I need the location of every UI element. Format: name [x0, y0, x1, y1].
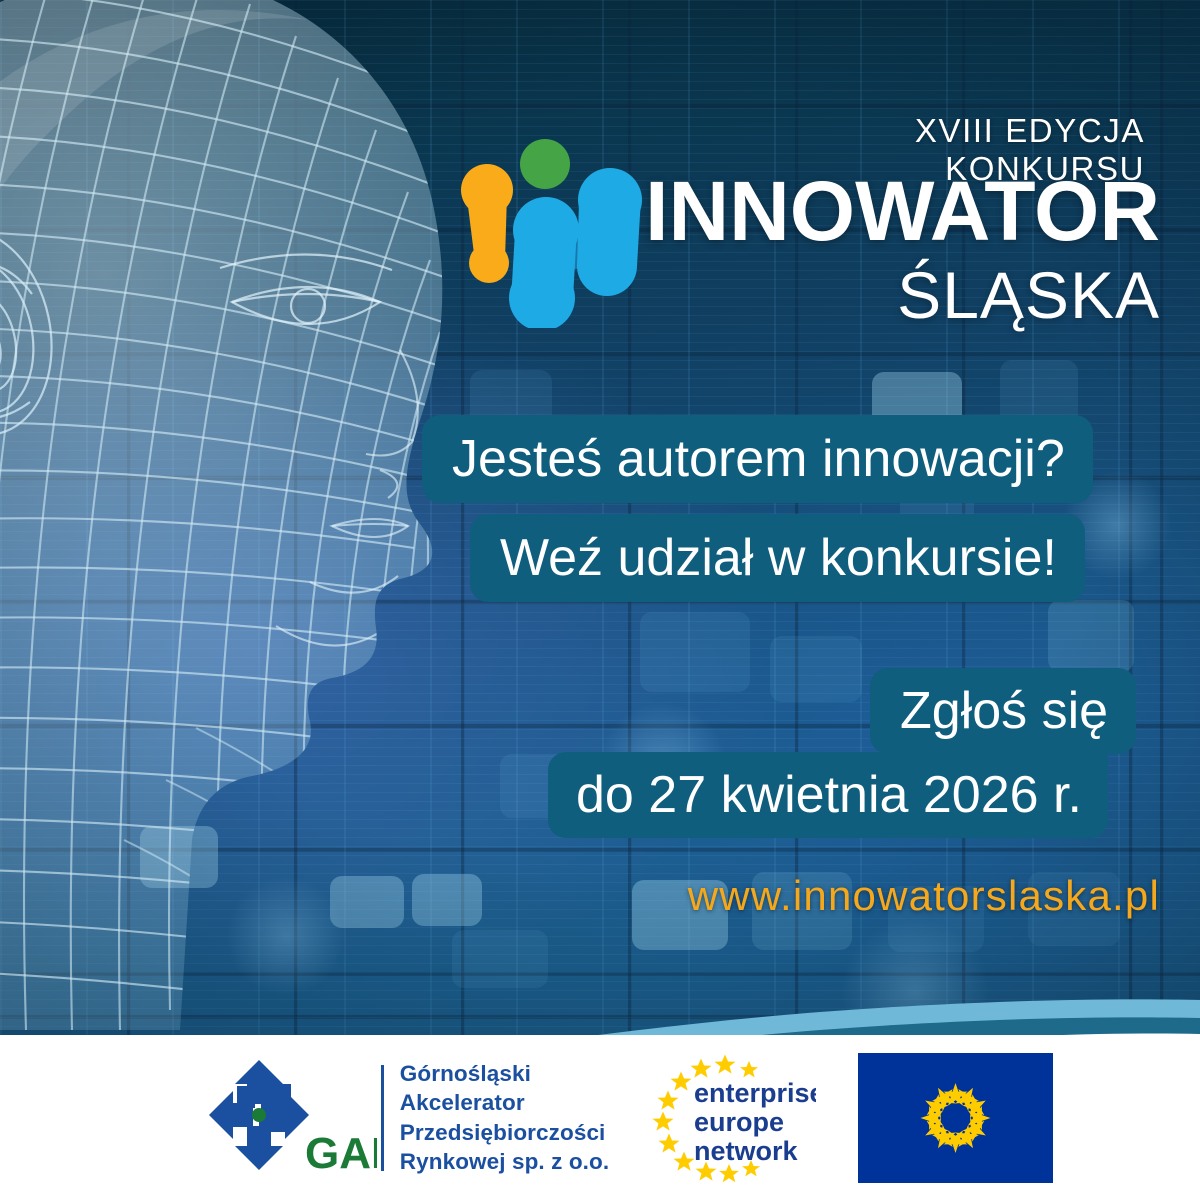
een-line-2: europe — [694, 1107, 784, 1137]
een-line-1: enterprise — [694, 1078, 816, 1108]
gapr-line-1: Górnośląski — [400, 1059, 609, 1088]
enterprise-europe-network-logo: enterprise europe network — [651, 1052, 816, 1184]
gapr-name-block: Górnośląski Akcelerator Przedsiębiorczoś… — [400, 1059, 609, 1176]
gapr-acronym: GAPR — [305, 1129, 377, 1178]
website-url[interactable]: www.innowatorslaska.pl — [620, 872, 1160, 920]
callout-deadline: do 27 kwietnia 2026 r. — [548, 752, 1108, 838]
brand-title: INNOWATOR — [600, 172, 1160, 252]
callout-cta: Weź udział w konkursie! — [470, 514, 1085, 602]
eu-flag-icon — [858, 1053, 1053, 1183]
callout-apply: Zgłoś się — [870, 668, 1136, 754]
poster-root: XVIII EDYCJA KONKURSU INNOWATOR ŚLĄSKA J… — [0, 0, 1200, 1200]
gapr-line-3: Przedsiębiorczości — [400, 1118, 609, 1147]
een-line-3: network — [694, 1136, 799, 1166]
gapr-arrows-icon: GAPR — [207, 1056, 377, 1180]
callout-question: Jesteś autorem innowacji? — [422, 415, 1093, 503]
logo-green-dot — [520, 139, 570, 189]
gapr-divider — [381, 1065, 384, 1171]
logo-blue-shape-left — [509, 197, 579, 328]
footer-logo-bar: GAPR Górnośląski Akcelerator Przedsiębio… — [0, 1035, 1200, 1200]
gapr-logo: GAPR Górnośląski Akcelerator Przedsiębio… — [207, 1056, 609, 1180]
logo-orange-shape — [461, 164, 513, 283]
gapr-line-4: Rynkowej sp. z o.o. — [400, 1147, 609, 1176]
gapr-line-2: Akcelerator — [400, 1088, 609, 1117]
brand-subtitle: ŚLĄSKA — [600, 262, 1160, 328]
